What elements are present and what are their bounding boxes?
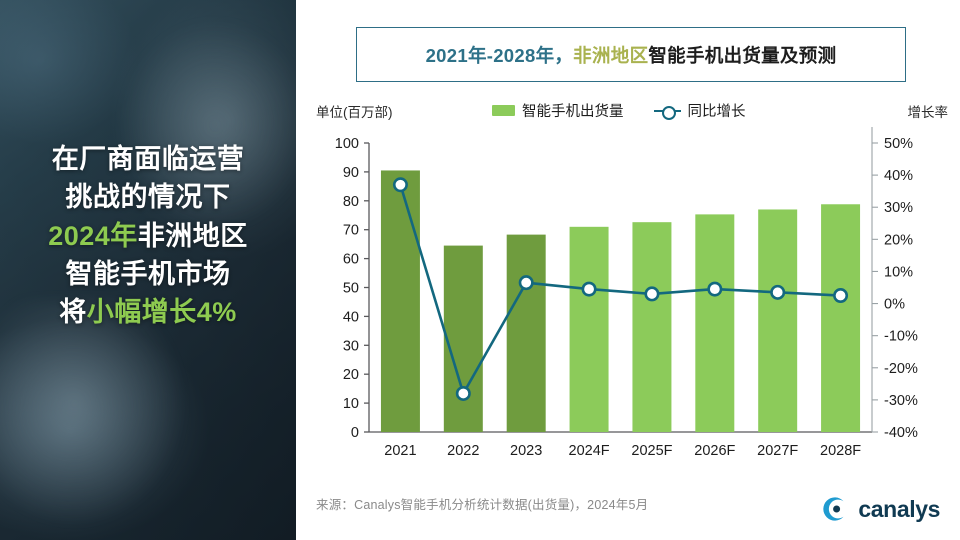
y-axis-tick-label: 0 — [351, 425, 359, 441]
bar-2023 — [507, 235, 546, 432]
growth-marker-2023 — [520, 276, 532, 288]
y2-axis-tick-label: 40% — [884, 168, 913, 184]
growth-marker-2028F — [834, 289, 846, 301]
y2-axis-tick-label: 10% — [884, 264, 913, 280]
chart-plot-area: 0102030405060708090100-40%-30%-20%-10%0%… — [296, 0, 960, 540]
hero-line-2: 2024年非洲地区 — [0, 217, 296, 255]
y-axis-tick-label: 50 — [343, 281, 359, 297]
x-axis-tick-label-2026F: 2026F — [694, 443, 735, 459]
x-axis-tick-label-2025F: 2025F — [631, 443, 672, 459]
hero-line-0: 在厂商面临运营 — [0, 140, 296, 178]
y-axis-tick-label: 70 — [343, 223, 359, 239]
y2-axis-tick-label: 50% — [884, 136, 913, 152]
hero-headline: 在厂商面临运营挑战的情况下2024年非洲地区智能手机市场将小幅增长4% — [0, 140, 296, 332]
growth-marker-2027F — [771, 286, 783, 298]
hero-highlight-text: 小幅增长4% — [87, 297, 237, 327]
growth-marker-2022 — [457, 387, 469, 399]
y-axis-tick-label: 10 — [343, 396, 359, 412]
hero-panel: 在厂商面临运营挑战的情况下2024年非洲地区智能手机市场将小幅增长4% — [0, 0, 296, 540]
growth-marker-2026F — [709, 283, 721, 295]
y2-axis-tick-label: 20% — [884, 232, 913, 248]
y-axis-tick-label: 100 — [335, 136, 359, 152]
hero-plain-text: 在厂商面临运营 — [52, 144, 245, 174]
y-axis-tick-label: 40 — [343, 309, 359, 325]
source-note: 来源：Canalys智能手机分析统计数据(出货量)，2024年5月 — [316, 494, 648, 513]
bar-2022 — [444, 246, 483, 432]
bar-2025F — [632, 222, 671, 432]
hero-plain-text: 非洲地区 — [138, 221, 248, 251]
y-axis-tick-label: 90 — [343, 165, 359, 181]
bar-2028F — [821, 204, 860, 432]
x-axis-tick-label-2027F: 2027F — [757, 443, 798, 459]
growth-marker-2024F — [583, 283, 595, 295]
hero-plain-text: 智能手机市场 — [66, 259, 231, 289]
hero-highlight-text: 2024年 — [48, 221, 138, 251]
x-axis-tick-label-2022: 2022 — [447, 443, 479, 459]
x-axis-tick-label-2028F: 2028F — [820, 443, 861, 459]
hero-line-3: 智能手机市场 — [0, 255, 296, 293]
y2-axis-tick-label: -30% — [884, 393, 918, 409]
canalys-logo: canalys — [823, 495, 940, 523]
y2-axis-tick-label: -10% — [884, 329, 918, 345]
y2-axis-tick-label: -20% — [884, 361, 918, 377]
y2-axis-tick-label: 30% — [884, 200, 913, 216]
growth-marker-2021 — [394, 179, 406, 191]
canalys-wordmark: canalys — [858, 496, 940, 523]
y-axis-tick-label: 80 — [343, 194, 359, 210]
hero-line-4: 将小幅增长4% — [0, 293, 296, 331]
x-axis-tick-label-2021: 2021 — [384, 443, 416, 459]
bar-2024F — [570, 227, 609, 432]
chart-card: 2021年-2028年，非洲地区智能手机出货量及预测 单位(百万部) 增长率 智… — [296, 0, 960, 540]
hero-plain-text: 将 — [59, 297, 87, 327]
hero-line-1: 挑战的情况下 — [0, 178, 296, 216]
x-axis-tick-label-2024F: 2024F — [569, 443, 610, 459]
hero-plain-text: 挑战的情况下 — [66, 182, 231, 212]
x-axis-tick-label-2023: 2023 — [510, 443, 542, 459]
y2-axis-tick-label: -40% — [884, 425, 918, 441]
y-axis-tick-label: 30 — [343, 338, 359, 354]
bar-2021 — [381, 170, 420, 432]
bar-2027F — [758, 209, 797, 432]
y2-axis-tick-label: 0% — [884, 297, 905, 313]
y-axis-tick-label: 60 — [343, 252, 359, 268]
growth-marker-2025F — [646, 288, 658, 300]
bar-2026F — [695, 214, 734, 432]
canalys-mark-icon — [823, 495, 851, 523]
hero-bokeh-lower — [0, 300, 190, 530]
y-axis-tick-label: 20 — [343, 367, 359, 383]
